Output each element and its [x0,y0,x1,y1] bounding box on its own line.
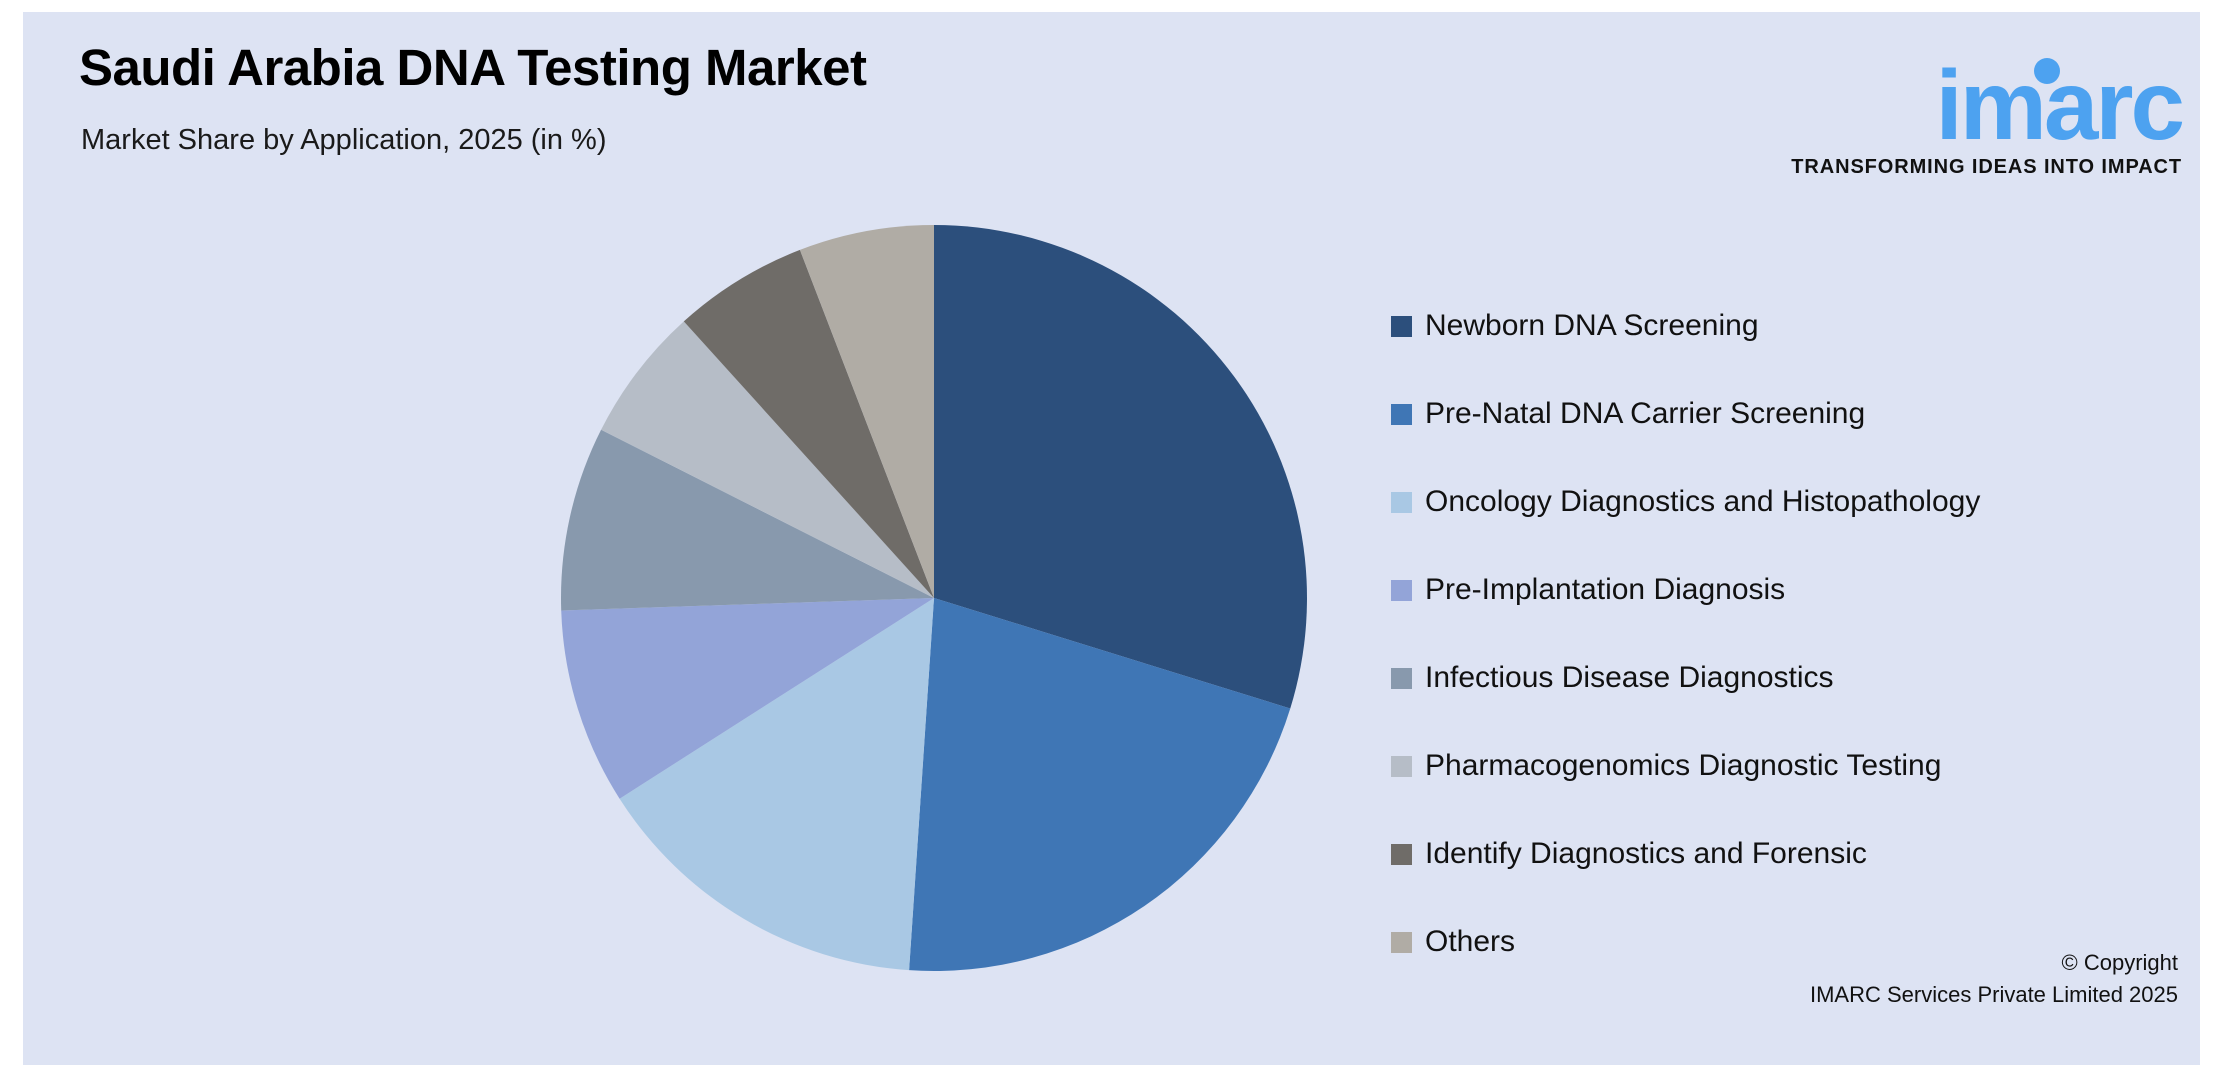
legend-label: Pharmacogenomics Diagnostic Testing [1425,751,1941,781]
legend-label: Infectious Disease Diagnostics [1425,663,1834,693]
page-subtitle: Market Share by Application, 2025 (in %) [81,124,607,157]
copyright-line-1: © Copyright [1810,947,2178,979]
legend-swatch-icon [1391,668,1412,689]
legend-swatch-icon [1391,844,1412,865]
logo-dot-icon [2034,58,2060,84]
copyright-line-2: IMARC Services Private Limited 2025 [1810,979,2178,1011]
legend-item[interactable]: Infectious Disease Diagnostics [1391,634,2181,722]
legend-item[interactable]: Pre-Natal DNA Carrier Screening [1391,370,2181,458]
page-title: Saudi Arabia DNA Testing Market [79,38,866,97]
legend-swatch-icon [1391,316,1412,337]
legend-label: Newborn DNA Screening [1425,311,1759,341]
chart-legend: Newborn DNA ScreeningPre-Natal DNA Carri… [1391,282,2181,986]
legend-swatch-icon [1391,756,1412,777]
legend-item[interactable]: Oncology Diagnostics and Histopathology [1391,458,2181,546]
logo-wordmark: imarc [1762,56,2182,154]
legend-swatch-icon [1391,932,1412,953]
legend-label: Pre-Implantation Diagnosis [1425,575,1785,605]
legend-swatch-icon [1391,404,1412,425]
pie-chart: Newborn DNA Screening: 28%Pre-Natal DNA … [538,202,1328,992]
legend-item[interactable]: Pre-Implantation Diagnosis [1391,546,2181,634]
legend-label: Oncology Diagnostics and Histopathology [1425,487,1980,517]
legend-label: Others [1425,927,1515,957]
legend-swatch-icon [1391,492,1412,513]
pie-chart-svg: Newborn DNA Screening: 28%Pre-Natal DNA … [538,202,1328,992]
legend-item[interactable]: Pharmacogenomics Diagnostic Testing [1391,722,2181,810]
legend-item[interactable]: Newborn DNA Screening [1391,282,2181,370]
logo-tagline: TRANSFORMING IDEAS INTO IMPACT [1762,156,2182,179]
copyright-block: © Copyright IMARC Services Private Limit… [1810,947,2178,1011]
legend-label: Identify Diagnostics and Forensic [1425,839,1867,869]
imarc-logo: imarc TRANSFORMING IDEAS INTO IMPACT [1762,34,2182,174]
legend-item[interactable]: Identify Diagnostics and Forensic [1391,810,2181,898]
legend-swatch-icon [1391,580,1412,601]
infographic-panel: Saudi Arabia DNA Testing Market Market S… [23,12,2200,1065]
legend-label: Pre-Natal DNA Carrier Screening [1425,399,1865,429]
